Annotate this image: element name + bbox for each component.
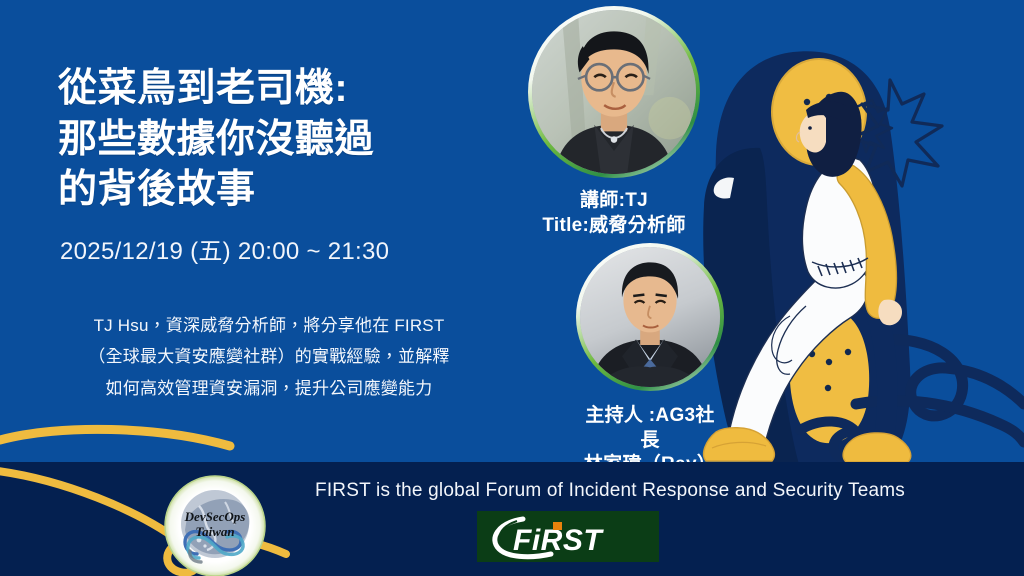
object-top-panel (772, 59, 866, 165)
webinar-poster: 從菜鳥到老司機: 那些數據你沒聽過 的背後故事 2025/12/19 (五) 2… (0, 0, 1024, 576)
object-bottom-panel (790, 312, 869, 443)
person-back-leg (860, 292, 897, 458)
person-back-shoe (843, 433, 911, 462)
devsecops-logo-line2: Taiwan (195, 524, 234, 539)
first-logo-dot (553, 522, 562, 530)
footer-tagline: FIRST is the global Forum of Incident Re… (0, 480, 1024, 502)
person-hand (878, 300, 902, 326)
person-front-leg (724, 260, 868, 460)
speaker-caption: 講師:TJ Title:威脅分析師 (528, 189, 700, 238)
devsecops-logo-line1: DevSecOps (184, 509, 246, 524)
page-title: 從菜鳥到老司機: 那些數據你沒聽過 的背後故事 (58, 64, 488, 216)
cable-squiggle (882, 340, 1024, 416)
person-face (800, 111, 826, 152)
person-arm-sleeve (837, 165, 896, 319)
zigzag-impact-mark-small (848, 100, 892, 152)
devsecops-taiwan-logo: DevSecOps Taiwan (163, 474, 267, 576)
person-hair (806, 92, 862, 177)
avatar (580, 247, 720, 387)
zigzag-impact-mark (852, 80, 942, 186)
first-logo: FiRST (477, 511, 659, 562)
speaker-avatar-ring (528, 6, 700, 178)
left-text-column: 從菜鳥到老司機: 那些數據你沒聽過 的背後故事 2025/12/19 (五) 2… (0, 0, 520, 462)
event-description: TJ Hsu，資深威脅分析師，將分享他在 FIRST （全球最大資安應變社群）的… (34, 310, 504, 404)
person-torso (802, 156, 878, 288)
speaker-block: 講師:TJ Title:威脅分析師 (528, 6, 700, 238)
pushed-object-shape (715, 51, 910, 470)
event-datetime: 2025/12/19 (五) 20:00 ~ 21:30 (60, 231, 389, 266)
host-avatar-ring (576, 243, 724, 391)
avatar (532, 10, 696, 174)
host-block: 主持人 :AG3社長 林家瑋（Ray） (576, 243, 724, 478)
